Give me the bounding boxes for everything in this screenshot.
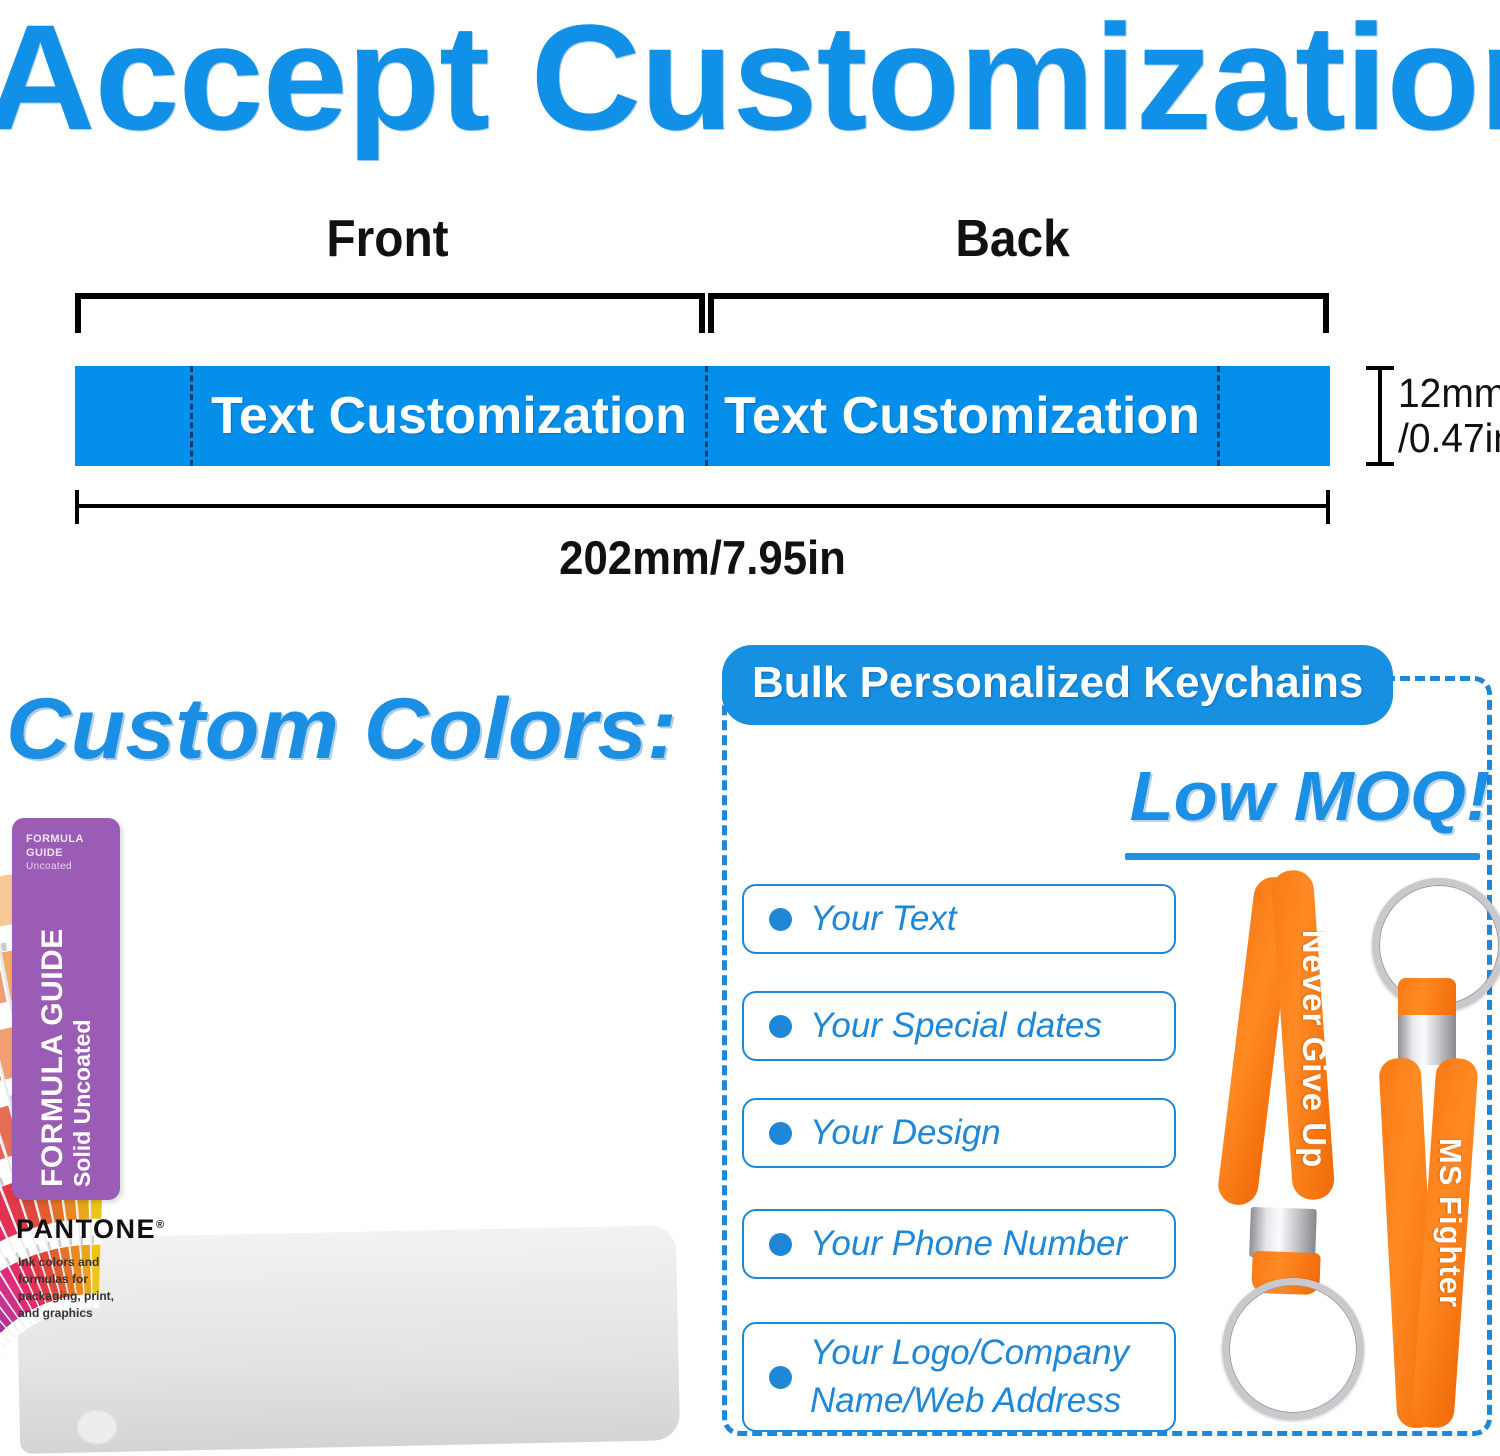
feature-item[interactable]: Your Design	[742, 1098, 1176, 1168]
bullet-icon	[769, 1366, 792, 1389]
strap-fold-line-3	[1217, 366, 1220, 466]
bracket-tick-left	[708, 293, 714, 333]
pantone-formula-guide-image: FORMULA GUIDE Uncoated FORMULA GUIDE Sol…	[0, 812, 700, 1456]
pantone-cover-main-subtitle: Solid Uncoated	[69, 887, 95, 1187]
custom-colors-heading: Custom Colors:	[6, 686, 677, 772]
pantone-wordmark: PANTONE®	[16, 1214, 166, 1245]
width-dimension-line	[75, 490, 1330, 524]
dimension-bar	[1378, 366, 1382, 466]
feature-label: Your Special dates	[810, 1005, 1102, 1047]
keychain-strap-graphic: Text Customization Text Customization	[75, 366, 1330, 466]
page-title: Accept Customization	[0, 0, 1500, 162]
pantone-cover-subtitle: Uncoated	[26, 860, 118, 874]
bullet-icon	[769, 1015, 792, 1038]
pantone-cover-title: FORMULA GUIDE	[26, 832, 118, 860]
size-spec-diagram: Front Back Text Customization Text Custo…	[0, 195, 1500, 590]
dimension-tick-left	[75, 490, 79, 524]
height-measurement-mm: 12mm	[1398, 371, 1497, 416]
low-moq-callout: Low MOQ!	[1047, 760, 1490, 832]
feature-item[interactable]: Your Phone Number	[742, 1209, 1176, 1279]
bracket-tick-right	[1323, 293, 1329, 333]
feature-item[interactable]: Your Text	[742, 884, 1176, 954]
bracket-tick-left	[75, 293, 81, 333]
strap-front-text: Text Customization	[193, 366, 705, 466]
registered-mark-icon: ®	[156, 1219, 166, 1231]
bracket-bar	[75, 293, 705, 299]
feature-label: Your Phone Number	[810, 1223, 1127, 1265]
front-side-label: Front	[229, 209, 546, 269]
back-side-label: Back	[854, 209, 1171, 269]
pantone-brand-text: PANTONE	[16, 1214, 156, 1244]
height-measurement-label: 12mm /0.47in	[1398, 371, 1497, 461]
strap-back-text: Text Customization	[707, 366, 1217, 466]
bullet-icon	[769, 1233, 792, 1256]
bullet-icon	[769, 1122, 792, 1145]
feature-label: Your Text	[810, 898, 957, 940]
feature-item[interactable]: Your Logo/Company Name/Web Address	[742, 1322, 1176, 1432]
width-measurement-label: 202mm/7.95in	[119, 530, 1286, 585]
bracket-bar	[708, 293, 1329, 299]
pantone-cover-top-text: FORMULA GUIDE Uncoated	[26, 832, 118, 874]
dimension-cap-top	[1366, 366, 1394, 370]
height-dimension-line	[1366, 366, 1394, 466]
low-moq-underline	[1125, 853, 1480, 860]
feature-label: Your Logo/Company Name/Web Address	[810, 1329, 1174, 1425]
fan-pivot-screw	[76, 1409, 118, 1445]
pantone-cover-vertical-text: FORMULA GUIDE Solid Uncoated	[37, 887, 95, 1187]
feature-label: Your Design	[810, 1112, 1001, 1154]
dimension-tick-right	[1326, 490, 1330, 524]
feature-item[interactable]: Your Special dates	[742, 991, 1176, 1061]
dimension-cap-bottom	[1366, 462, 1394, 466]
front-span-bracket	[75, 293, 705, 333]
height-measurement-in: /0.47in	[1398, 416, 1497, 461]
dimension-bar	[75, 504, 1330, 508]
bracket-tick-right	[699, 293, 705, 333]
keychain-left-split-ring	[1222, 1278, 1364, 1420]
keychain-left-engraved-text: Never Give Up	[1295, 899, 1333, 1199]
keychain-product-photo: Never Give Up MS Fighter	[1212, 860, 1500, 1448]
keychain-right-engraved-text: MS Fighter	[1432, 1073, 1468, 1373]
bullet-icon	[769, 908, 792, 931]
pantone-description: Ink colors and formulas for packaging, p…	[18, 1254, 138, 1322]
panel-title-badge: Bulk Personalized Keychains	[722, 645, 1393, 725]
pantone-cover: FORMULA GUIDE Uncoated FORMULA GUIDE Sol…	[12, 818, 120, 1200]
back-span-bracket	[708, 293, 1329, 333]
pantone-cover-main-title: FORMULA GUIDE	[37, 887, 69, 1187]
